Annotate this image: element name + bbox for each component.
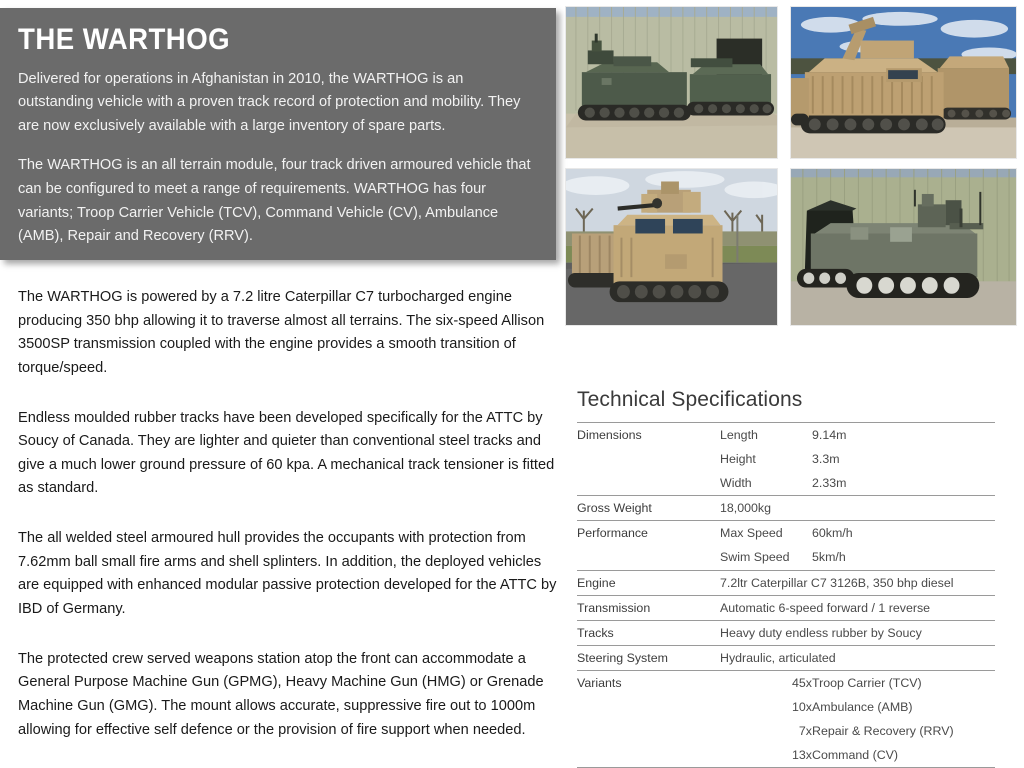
variant-count-tcv: 45x: [720, 670, 812, 695]
table-row: 10x Ambulance (AMB): [577, 695, 995, 719]
page-title: THE WARTHOG: [18, 24, 496, 56]
table-row: Width 2.33m: [577, 471, 995, 496]
body-copy: The WARTHOG is powered by a 7.2 litre Ca…: [18, 286, 558, 742]
table-row: 7x Repair & Recovery (RRV): [577, 719, 995, 743]
spec-value-swim-speed: 5km/h: [812, 545, 995, 570]
spec-sub-height: Height: [720, 447, 812, 471]
spec-label-blank-4: [577, 695, 720, 719]
table-row: Tracks Heavy duty endless rubber by Souc…: [577, 620, 995, 645]
spec-label-blank-2: [577, 471, 720, 496]
spec-value-tracks: Heavy duty endless rubber by Soucy: [720, 620, 995, 645]
table-row: Transmission Automatic 6-speed forward /…: [577, 595, 995, 620]
spec-label-performance: Performance: [577, 521, 720, 546]
spec-value-engine: 7.2ltr Caterpillar C7 3126B, 350 bhp die…: [720, 570, 995, 595]
spec-value-gross-weight: 18,000kg: [720, 496, 995, 521]
table-row: Engine 7.2ltr Caterpillar C7 3126B, 350 …: [577, 570, 995, 595]
spec-value-width: 2.33m: [812, 471, 995, 496]
spec-label-blank-1: [577, 447, 720, 471]
photo-green-warthog-side-hangar: [790, 168, 1017, 326]
table-row: 13x Command (CV): [577, 743, 995, 768]
spec-value-max-speed: 60km/h: [812, 521, 995, 546]
spec-label-blank-5: [577, 719, 720, 743]
spec-label-blank-6: [577, 743, 720, 768]
photo-grid: [565, 6, 1017, 326]
variant-count-rrv: 7x: [720, 719, 812, 743]
spec-sub-length: Length: [720, 423, 812, 448]
spec-sub-max-speed: Max Speed: [720, 521, 812, 546]
spec-sub-swim-speed: Swim Speed: [720, 545, 812, 570]
body-paragraph-armour: The all welded steel armoured hull provi…: [18, 527, 558, 622]
spec-label-gross-weight: Gross Weight: [577, 496, 720, 521]
technical-specifications-section: Technical Specifications Dimensions Leng…: [577, 388, 995, 768]
header-panel: THE WARTHOG Delivered for operations in …: [0, 8, 556, 260]
table-row: Height 3.3m: [577, 447, 995, 471]
variant-name-rrv: Repair & Recovery (RRV): [812, 719, 995, 743]
spec-value-length: 9.14m: [812, 423, 995, 448]
variant-name-tcv: Troop Carrier (TCV): [812, 670, 995, 695]
header-paragraph-1: Delivered for operations in Afghanistan …: [18, 68, 538, 139]
spec-table: Dimensions Length 9.14m Height 3.3m Widt…: [577, 422, 995, 768]
spec-label-steering-system: Steering System: [577, 645, 720, 670]
table-row: Variants 45x Troop Carrier (TCV): [577, 670, 995, 695]
spec-label-engine: Engine: [577, 570, 720, 595]
table-row: Swim Speed 5km/h: [577, 545, 995, 570]
body-paragraph-tracks: Endless moulded rubber tracks have been …: [18, 407, 558, 502]
spec-label-blank-3: [577, 545, 720, 570]
spec-value-steering-system: Hydraulic, articulated: [720, 645, 995, 670]
body-paragraph-weapons: The protected crew served weapons statio…: [18, 648, 558, 743]
variant-count-amb: 10x: [720, 695, 812, 719]
spec-value-transmission: Automatic 6-speed forward / 1 reverse: [720, 595, 995, 620]
body-paragraph-engine: The WARTHOG is powered by a 7.2 litre Ca…: [18, 286, 558, 381]
photo-green-warthog-pair: [565, 6, 778, 159]
spec-value-height: 3.3m: [812, 447, 995, 471]
spec-label-transmission: Transmission: [577, 595, 720, 620]
table-row: Steering System Hydraulic, articulated: [577, 645, 995, 670]
variant-name-cv: Command (CV): [812, 743, 995, 768]
spec-label-tracks: Tracks: [577, 620, 720, 645]
photo-desert-tan-warthog-convoy: [790, 6, 1017, 159]
table-row: Dimensions Length 9.14m: [577, 423, 995, 448]
photo-tan-warthog-front-weapons-station: [565, 168, 778, 326]
variant-count-cv: 13x: [720, 743, 812, 768]
spec-sub-width: Width: [720, 471, 812, 496]
table-row: Performance Max Speed 60km/h: [577, 521, 995, 546]
spec-label-variants: Variants: [577, 670, 720, 695]
header-paragraph-2: The WARTHOG is an all terrain module, fo…: [18, 154, 538, 249]
spec-label-dimensions: Dimensions: [577, 423, 720, 448]
variant-name-amb: Ambulance (AMB): [812, 695, 995, 719]
spec-heading: Technical Specifications: [577, 388, 995, 412]
table-row: Gross Weight 18,000kg: [577, 496, 995, 521]
